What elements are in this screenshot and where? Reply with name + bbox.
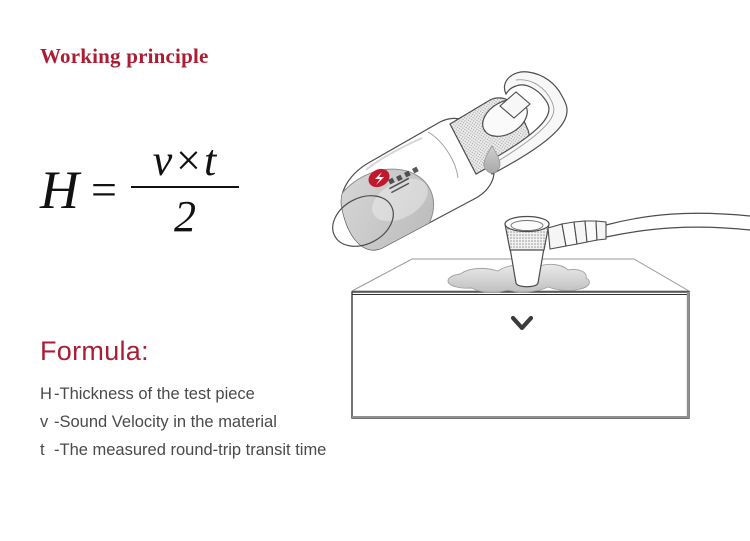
legend-definition: The measured round-trip transit time	[60, 441, 327, 459]
illustration	[330, 78, 750, 438]
formula-equals-sign: =	[91, 167, 131, 213]
legend-symbol: v	[40, 408, 54, 436]
legend-symbol: H	[40, 380, 54, 408]
block-front-face	[352, 292, 689, 418]
probe-cable	[606, 213, 750, 225]
probe-strain-relief	[548, 221, 606, 249]
page-title: Working principle	[40, 44, 209, 69]
formula-denominator: 2	[174, 188, 196, 243]
formula-block: H = v×t 2	[40, 138, 239, 243]
legend-definition: Sound Velocity in the material	[60, 413, 277, 431]
probe-body-lower	[510, 248, 544, 287]
legend-definition: Thickness of the test piece	[60, 385, 255, 403]
formula-result-symbol: H	[40, 163, 91, 217]
list-item: t-The measured round-trip transit time	[40, 436, 470, 464]
probe-cable-lower-edge	[606, 227, 750, 237]
legend-symbol: t	[40, 436, 54, 464]
formula-numerator: v×t	[143, 138, 227, 186]
probe-top-inner	[511, 221, 543, 231]
slide-canvas: Working principle H = v×t 2 Formula: H-T…	[0, 0, 750, 541]
formula-fraction: v×t 2	[131, 138, 239, 243]
legend-heading: Formula:	[40, 336, 149, 367]
